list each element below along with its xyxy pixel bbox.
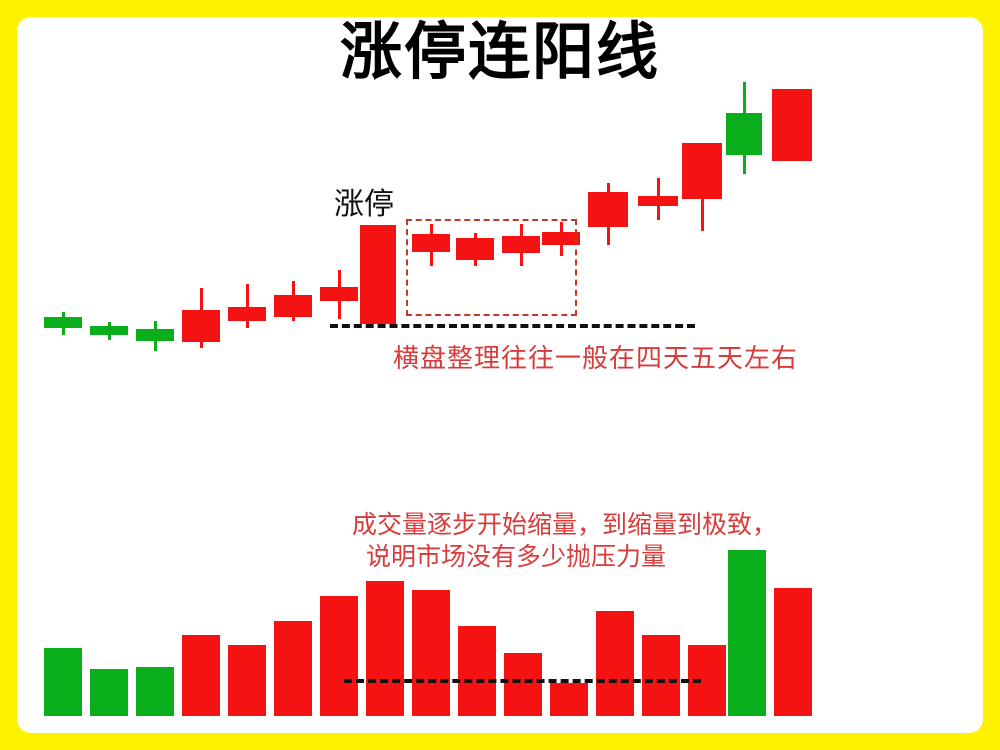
volume-bar-8 bbox=[366, 581, 404, 716]
candle-2 bbox=[90, 322, 128, 340]
candle-body bbox=[274, 295, 312, 317]
volume-bar-9 bbox=[412, 590, 450, 716]
consolidation-box bbox=[406, 219, 577, 316]
candle-6 bbox=[274, 281, 312, 321]
volume-bar-14 bbox=[642, 635, 680, 716]
volume-bar-1 bbox=[44, 648, 82, 716]
poster-frame: 涨停连阳线 涨停 横盘整理往往一般在四天五天左右 成交量逐步开始缩量，到缩量到极… bbox=[17, 17, 983, 733]
candle-body bbox=[44, 317, 82, 328]
candle-body bbox=[638, 196, 678, 206]
volume-bar-10 bbox=[458, 626, 496, 716]
volume-bar-17 bbox=[774, 588, 812, 716]
candle-8 bbox=[360, 225, 396, 324]
candle-wick bbox=[246, 284, 249, 328]
candle-4 bbox=[182, 288, 220, 348]
volume-bar-11 bbox=[504, 653, 542, 716]
volume-bar-7 bbox=[320, 596, 358, 716]
candle-15 bbox=[682, 143, 722, 231]
volume-bar-4 bbox=[182, 635, 220, 716]
candle-1 bbox=[44, 312, 82, 335]
candle-body bbox=[90, 326, 128, 335]
candle-body bbox=[182, 310, 220, 342]
candle-16 bbox=[726, 82, 762, 174]
candle-body bbox=[772, 89, 812, 161]
candle-body bbox=[588, 192, 628, 227]
candle-7 bbox=[320, 270, 358, 319]
volume-bar-5 bbox=[228, 645, 266, 716]
limit-up-label: 涨停 bbox=[334, 189, 394, 221]
candle-13 bbox=[588, 183, 628, 245]
candle-body bbox=[682, 143, 722, 199]
candle-3 bbox=[136, 321, 174, 351]
candle-17 bbox=[772, 89, 812, 161]
price-reference-dashed-line bbox=[330, 324, 695, 328]
volume-bar-2 bbox=[90, 669, 128, 716]
chart-stage: 涨停连阳线 涨停 横盘整理往往一般在四天五天左右 成交量逐步开始缩量，到缩量到极… bbox=[17, 17, 983, 733]
candle-body bbox=[360, 225, 396, 324]
volume-annotation: 成交量逐步开始缩量，到缩量到极致， 说明市场没有多少抛压力量 bbox=[352, 509, 777, 573]
volume-bar-6 bbox=[274, 621, 312, 716]
candle-body bbox=[726, 113, 762, 155]
consolidation-annotation: 横盘整理往往一般在四天五天左右 bbox=[393, 344, 798, 374]
volume-reference-dashed-line bbox=[344, 679, 701, 683]
volume-bar-13 bbox=[596, 611, 634, 716]
candle-body bbox=[228, 307, 266, 321]
candle-5 bbox=[228, 284, 266, 328]
volume-bar-12 bbox=[550, 683, 588, 716]
volume-bar-16 bbox=[728, 550, 766, 716]
candle-body bbox=[320, 287, 358, 301]
candle-14 bbox=[638, 178, 678, 220]
volume-annotation-line-1: 成交量逐步开始缩量，到缩量到极致， bbox=[352, 509, 777, 541]
volume-annotation-line-2: 说明市场没有多少抛压力量 bbox=[352, 541, 777, 573]
volume-bar-3 bbox=[136, 667, 174, 716]
page-title: 涨停连阳线 bbox=[17, 17, 983, 88]
candle-body bbox=[136, 329, 174, 341]
